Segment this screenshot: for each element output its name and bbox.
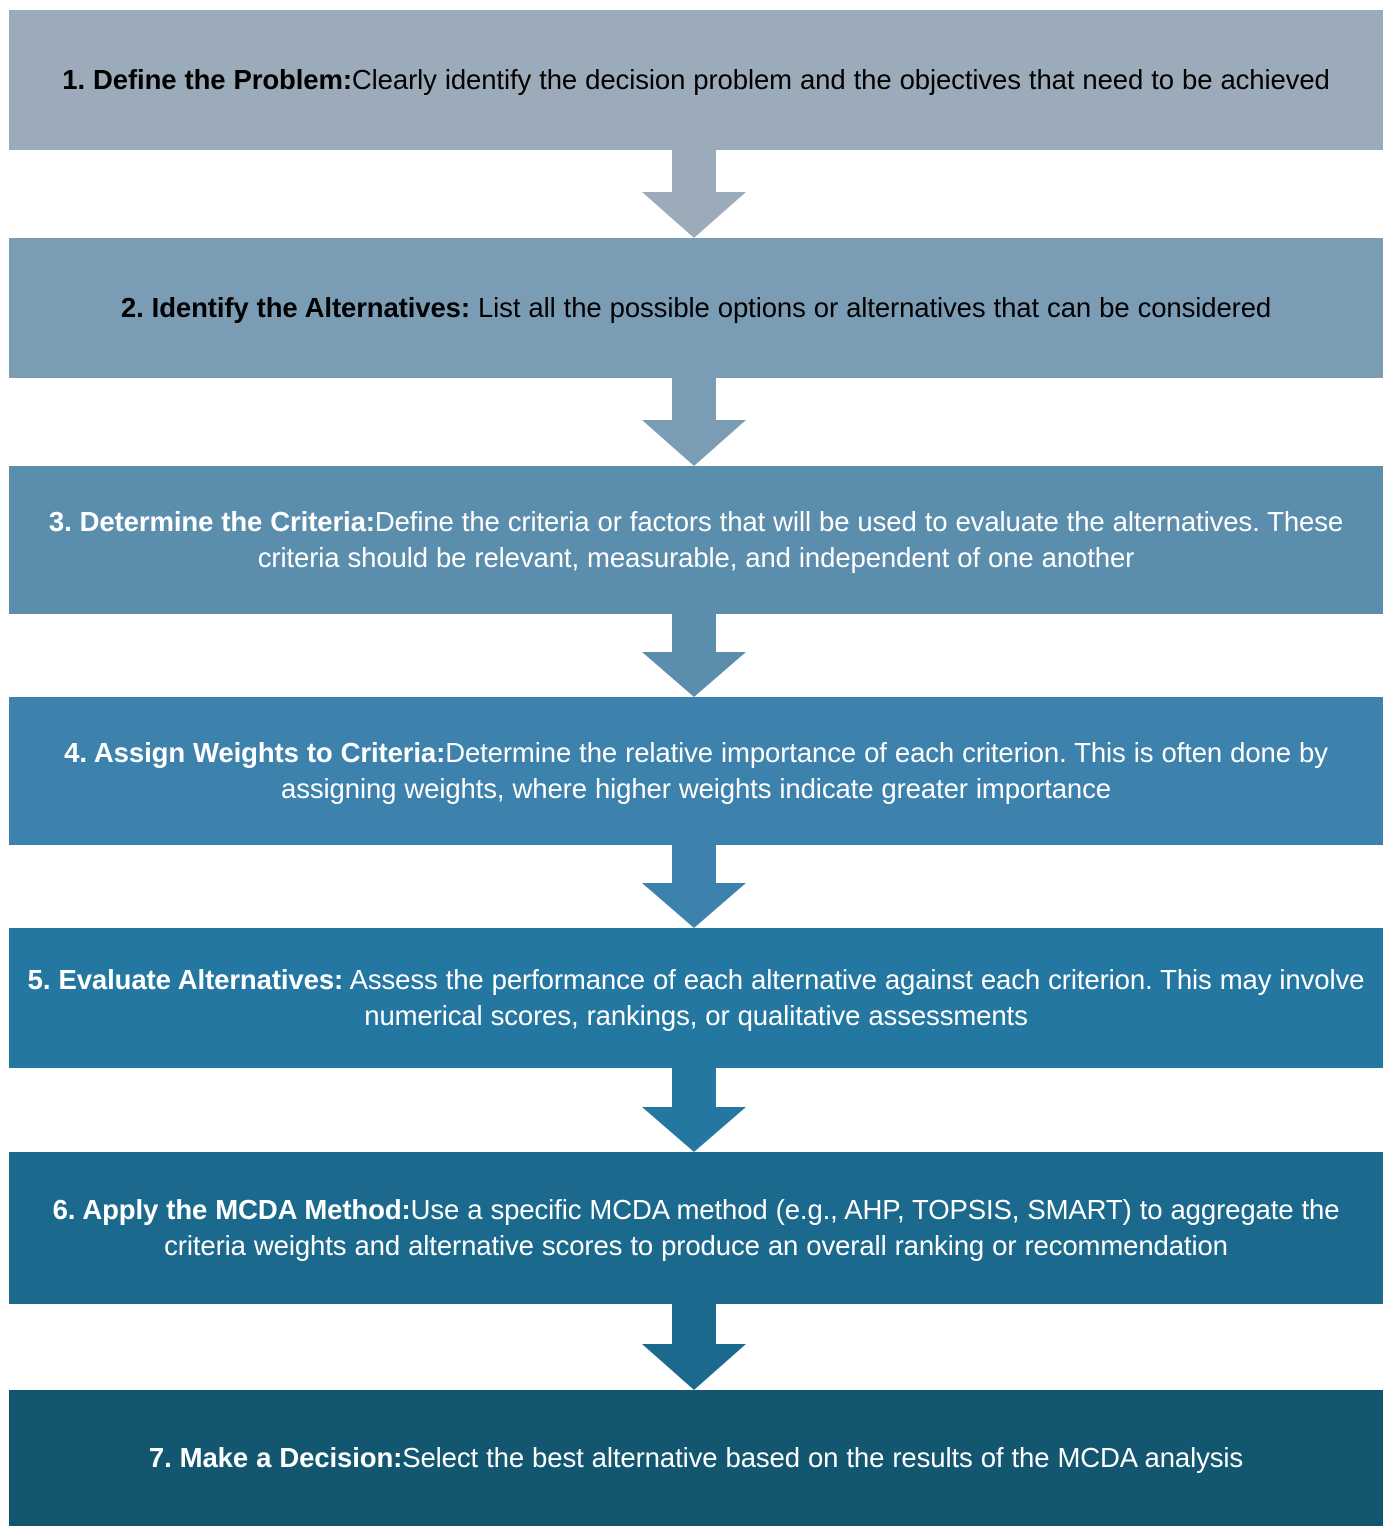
flow-step-7-body: Select the best alternative based on the… <box>402 1442 1243 1473</box>
flow-step-2-title: 2. Identify the Alternatives: <box>121 292 470 323</box>
flow-step-5: 5. Evaluate Alternatives: Assess the per… <box>9 928 1383 1068</box>
down-arrow-shape <box>642 1304 746 1390</box>
flow-step-5-body: Assess the performance of each alternati… <box>343 964 1364 1031</box>
flow-step-2-body: List all the possible options or alterna… <box>470 292 1271 323</box>
flow-step-1-title: 1. Define the Problem: <box>62 64 352 95</box>
flow-step-3-text: 3. Determine the Criteria:Define the cri… <box>23 504 1369 576</box>
flow-step-2: 2. Identify the Alternatives: List all t… <box>9 238 1383 378</box>
down-arrow-icon-3-to-4 <box>642 614 746 697</box>
flow-step-1-body: Clearly identify the decision problem an… <box>352 64 1330 95</box>
down-arrow-icon-5-to-6 <box>642 1068 746 1152</box>
flow-step-6: 6. Apply the MCDA Method:Use a specific … <box>9 1152 1383 1304</box>
down-arrow-shape <box>642 150 746 238</box>
flow-step-3-body: Define the criteria or factors that will… <box>258 506 1343 573</box>
flow-step-4-text: 4. Assign Weights to Criteria:Determine … <box>23 735 1369 807</box>
down-arrow-shape <box>642 845 746 928</box>
down-arrow-shape <box>642 1068 746 1152</box>
flow-step-5-title: 5. Evaluate Alternatives: <box>28 964 343 995</box>
down-arrow-icon-6-to-7 <box>642 1304 746 1390</box>
flow-step-3: 3. Determine the Criteria:Define the cri… <box>9 466 1383 614</box>
flow-step-7: 7. Make a Decision:Select the best alter… <box>9 1390 1383 1526</box>
flow-step-5-text: 5. Evaluate Alternatives: Assess the per… <box>23 962 1369 1034</box>
flow-step-3-title: 3. Determine the Criteria: <box>49 506 375 537</box>
mcda-flowchart: 1. Define the Problem:Clearly identify t… <box>0 0 1393 1536</box>
flow-step-7-text: 7. Make a Decision:Select the best alter… <box>23 1440 1369 1476</box>
flow-step-4-title: 4. Assign Weights to Criteria: <box>64 737 445 768</box>
flow-step-6-title: 6. Apply the MCDA Method: <box>53 1194 411 1225</box>
down-arrow-icon-2-to-3 <box>642 378 746 466</box>
flow-step-1-text: 1. Define the Problem:Clearly identify t… <box>23 62 1369 98</box>
flow-step-4: 4. Assign Weights to Criteria:Determine … <box>9 697 1383 845</box>
down-arrow-icon-1-to-2 <box>642 150 746 238</box>
down-arrow-icon-4-to-5 <box>642 845 746 928</box>
flow-step-2-text: 2. Identify the Alternatives: List all t… <box>23 290 1369 326</box>
flow-step-1: 1. Define the Problem:Clearly identify t… <box>9 10 1383 150</box>
down-arrow-shape <box>642 378 746 466</box>
down-arrow-shape <box>642 614 746 697</box>
flow-step-6-text: 6. Apply the MCDA Method:Use a specific … <box>23 1192 1369 1264</box>
flow-step-7-title: 7. Make a Decision: <box>149 1442 402 1473</box>
